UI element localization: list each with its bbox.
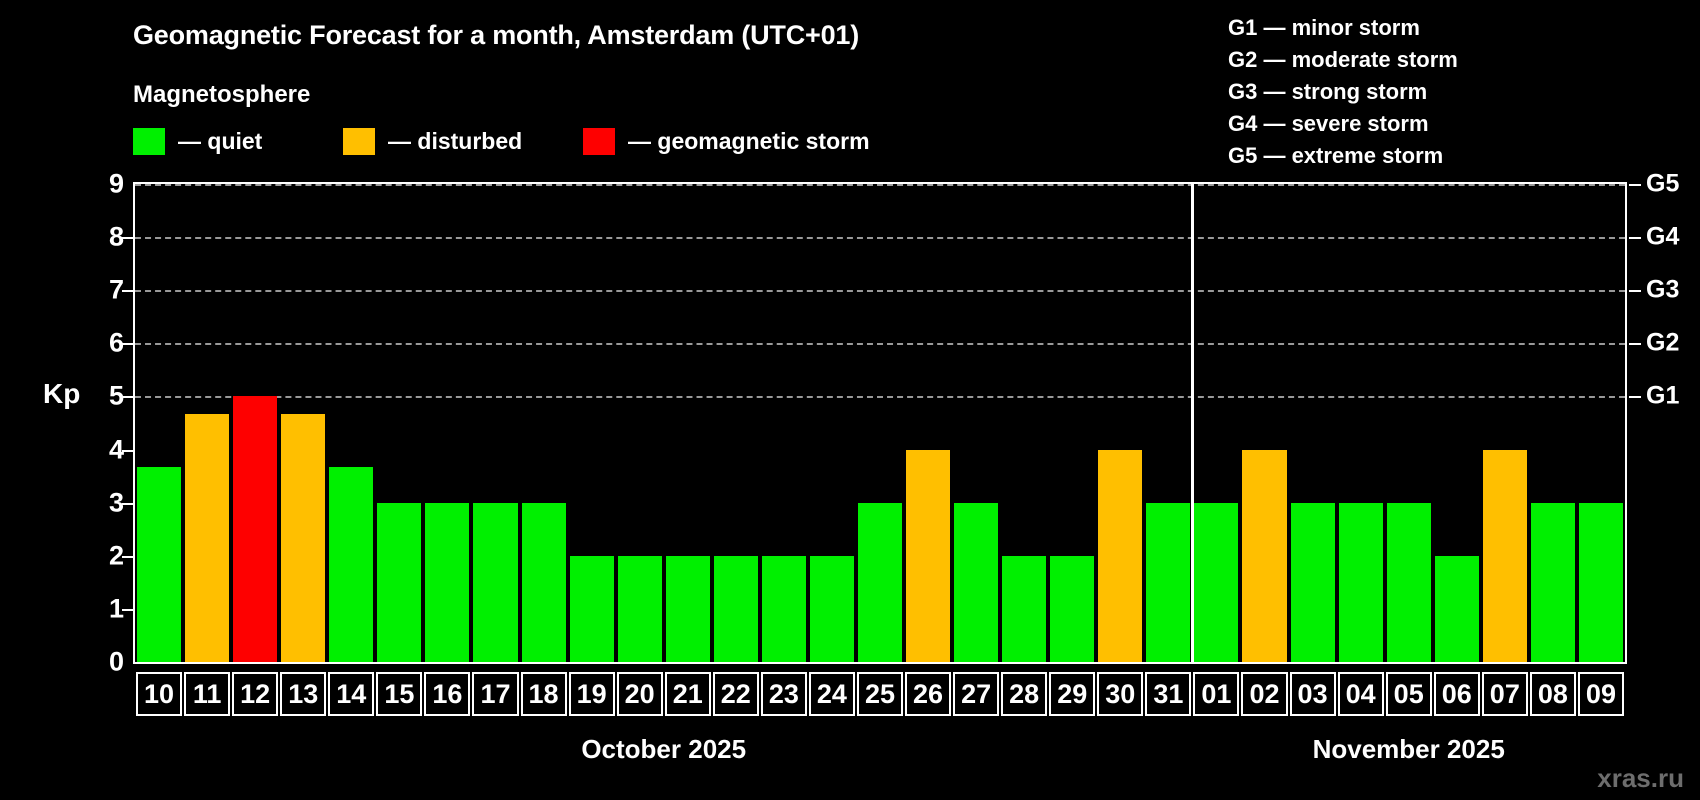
plot-area: [133, 182, 1627, 664]
date-label-06: 06: [1434, 672, 1480, 716]
date-label-26: 26: [905, 672, 951, 716]
gridline: [135, 290, 1625, 292]
gridline: [135, 237, 1625, 239]
bar-07: [1483, 450, 1527, 662]
bar-25: [858, 503, 902, 662]
date-label-31: 31: [1145, 672, 1191, 716]
kp-tick-label: 8: [84, 222, 124, 253]
legend-swatch-icon: [133, 128, 165, 155]
kp-tick-label: 2: [84, 540, 124, 571]
legend-item-disturbed: — disturbed: [343, 126, 522, 156]
g-tick-label-g1: G1: [1646, 382, 1679, 411]
bar-20: [618, 556, 662, 662]
month-caption-november: November 2025: [1313, 734, 1505, 765]
date-label-19: 19: [569, 672, 615, 716]
date-label-10: 10: [136, 672, 182, 716]
date-label-17: 17: [472, 672, 518, 716]
g-tick-mark: [1629, 290, 1641, 292]
bar-26: [906, 450, 950, 662]
g-tick-mark: [1629, 237, 1641, 239]
date-label-08: 08: [1530, 672, 1576, 716]
gridline: [135, 396, 1625, 398]
kp-tick-mark: [122, 237, 133, 239]
bar-22: [714, 556, 758, 662]
legend-label: — quiet: [178, 130, 262, 153]
date-label-28: 28: [1001, 672, 1047, 716]
date-label-15: 15: [376, 672, 422, 716]
month-separator: [1191, 184, 1194, 662]
date-label-04: 04: [1338, 672, 1384, 716]
date-label-25: 25: [857, 672, 903, 716]
bar-23: [762, 556, 806, 662]
g-tick-label-g3: G3: [1646, 276, 1679, 305]
g-tick-label-g5: G5: [1646, 170, 1679, 199]
kp-tick-label: 6: [84, 328, 124, 359]
kp-tick-label: 9: [84, 169, 124, 200]
bar-11: [185, 414, 229, 662]
storm-scale-row-g5: G5 — extreme storm: [1228, 140, 1458, 172]
storm-scale-row-g2: G2 — moderate storm: [1228, 44, 1458, 76]
gridline: [135, 343, 1625, 345]
bar-28: [1002, 556, 1046, 662]
watermark: xras.ru: [1597, 763, 1684, 794]
legend-item-quiet: — quiet: [133, 126, 262, 156]
date-label-13: 13: [280, 672, 326, 716]
bar-02: [1242, 450, 1286, 662]
g-tick-label-g2: G2: [1646, 329, 1679, 358]
storm-scale-row-g3: G3 — strong storm: [1228, 76, 1458, 108]
storm-scale-row-g4: G4 — severe storm: [1228, 108, 1458, 140]
date-label-11: 11: [184, 672, 230, 716]
date-label-09: 09: [1578, 672, 1624, 716]
date-label-27: 27: [953, 672, 999, 716]
bar-21: [666, 556, 710, 662]
date-label-12: 12: [232, 672, 278, 716]
date-label-03: 03: [1290, 672, 1336, 716]
date-label-05: 05: [1386, 672, 1432, 716]
kp-tick-label: 4: [84, 434, 124, 465]
kp-tick-label: 7: [84, 275, 124, 306]
kp-tick-mark: [122, 609, 133, 611]
legend-swatch-icon: [343, 128, 375, 155]
kp-tick-label: 0: [84, 647, 124, 678]
month-caption-october: October 2025: [581, 734, 746, 765]
magnetosphere-heading: Magnetosphere: [133, 81, 310, 109]
date-label-16: 16: [424, 672, 470, 716]
legend-item-geomagnetic-storm: — geomagnetic storm: [583, 126, 870, 156]
kp-tick-mark: [122, 450, 133, 452]
date-label-14: 14: [328, 672, 374, 716]
bar-19: [570, 556, 614, 662]
bar-31: [1146, 503, 1190, 662]
legend-label: — disturbed: [388, 130, 522, 153]
kp-tick-label: 3: [84, 487, 124, 518]
bar-29: [1050, 556, 1094, 662]
geomagnetic-forecast-chart: Geomagnetic Forecast for a month, Amster…: [0, 0, 1700, 800]
legend-swatch-icon: [583, 128, 615, 155]
bar-08: [1531, 503, 1575, 662]
bar-10: [137, 467, 181, 662]
kp-tick-mark: [122, 343, 133, 345]
bar-01: [1194, 503, 1238, 662]
plot-inner: [135, 184, 1625, 662]
bar-04: [1339, 503, 1383, 662]
kp-axis-label: Kp: [43, 378, 80, 410]
bar-27: [954, 503, 998, 662]
date-label-02: 02: [1241, 672, 1287, 716]
bar-18: [522, 503, 566, 662]
bar-15: [377, 503, 421, 662]
g-tick-mark: [1629, 396, 1641, 398]
bar-03: [1291, 503, 1335, 662]
date-label-29: 29: [1049, 672, 1095, 716]
kp-tick-mark: [122, 290, 133, 292]
kp-tick-mark: [122, 503, 133, 505]
bar-16: [425, 503, 469, 662]
bar-12: [233, 396, 277, 662]
bar-06: [1435, 556, 1479, 662]
date-label-23: 23: [761, 672, 807, 716]
bar-17: [473, 503, 517, 662]
date-label-21: 21: [665, 672, 711, 716]
storm-scale-legend: G1 — minor stormG2 — moderate stormG3 — …: [1228, 12, 1458, 172]
date-label-20: 20: [617, 672, 663, 716]
g-tick-mark: [1629, 343, 1641, 345]
kp-tick-mark: [122, 396, 133, 398]
date-label-18: 18: [521, 672, 567, 716]
legend-label: — geomagnetic storm: [628, 130, 870, 153]
bar-09: [1579, 503, 1623, 662]
bar-30: [1098, 450, 1142, 662]
date-label-30: 30: [1097, 672, 1143, 716]
g-tick-label-g4: G4: [1646, 223, 1679, 252]
storm-scale-row-g1: G1 — minor storm: [1228, 12, 1458, 44]
bar-14: [329, 467, 373, 662]
kp-tick-label: 1: [84, 593, 124, 624]
page-title: Geomagnetic Forecast for a month, Amster…: [133, 20, 859, 51]
date-label-24: 24: [809, 672, 855, 716]
date-label-22: 22: [713, 672, 759, 716]
kp-tick-label: 5: [84, 381, 124, 412]
bar-13: [281, 414, 325, 662]
bar-24: [810, 556, 854, 662]
bar-05: [1387, 503, 1431, 662]
date-label-07: 07: [1482, 672, 1528, 716]
kp-tick-mark: [122, 556, 133, 558]
g-tick-mark: [1629, 184, 1641, 186]
date-label-01: 01: [1193, 672, 1239, 716]
gridline: [135, 184, 1625, 186]
